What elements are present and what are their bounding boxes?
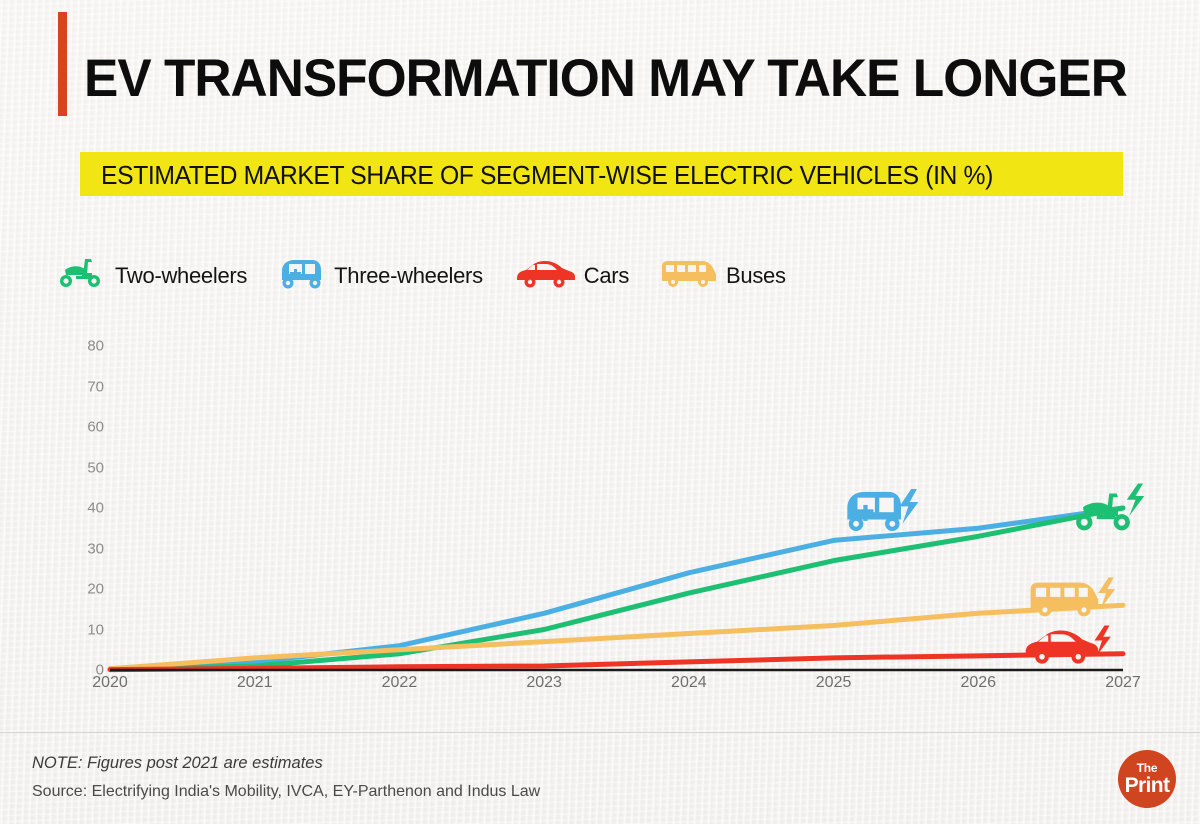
- legend-label-three-wheelers: Three-wheelers: [334, 263, 483, 289]
- logo-line-2: Print: [1125, 775, 1170, 796]
- auto-rickshaw-marker-icon: [847, 489, 918, 531]
- scooter-marker-icon: [1076, 484, 1144, 531]
- legend-item-three-wheelers[interactable]: Three-wheelers: [277, 256, 483, 295]
- chart-note: NOTE: Figures post 2021 are estimates: [32, 754, 323, 773]
- legend-label-buses: Buses: [726, 263, 786, 289]
- x-axis-tick: 2020: [92, 674, 128, 692]
- series-line-buses: [110, 605, 1123, 669]
- endpoint-icons: [847, 484, 1144, 664]
- car-marker-icon: [1026, 626, 1111, 664]
- legend-item-buses[interactable]: Buses: [659, 258, 786, 293]
- auto-rickshaw-icon: [277, 256, 325, 295]
- bus-marker-icon: [1031, 577, 1116, 616]
- series-line-three-wheelers: [110, 508, 1123, 669]
- x-axis-tick: 2025: [816, 674, 852, 692]
- logo-line-1: The: [1137, 762, 1158, 774]
- page-subtitle: ESTIMATED MARKET SHARE OF SEGMENT-WISE E…: [101, 160, 993, 191]
- footer-divider: [0, 732, 1200, 733]
- legend-item-cars[interactable]: Cars: [513, 258, 629, 293]
- car-icon: [513, 258, 575, 293]
- scooter-icon: [52, 256, 106, 295]
- legend-item-two-wheelers[interactable]: Two-wheelers: [52, 256, 247, 295]
- legend-label-two-wheelers: Two-wheelers: [115, 263, 247, 289]
- x-axis-tick: 2021: [237, 674, 273, 692]
- chart-plot-area: [0, 318, 1200, 698]
- x-axis-tick: 2024: [671, 674, 707, 692]
- line-chart: 01020304050607080: [0, 318, 1200, 698]
- page-title: EV TRANSFORMATION MAY TAKE LONGER: [84, 52, 1127, 105]
- series-paths: [110, 508, 1123, 670]
- chart-source: Source: Electrifying India's Mobility, I…: [32, 783, 540, 801]
- bus-icon: [659, 258, 717, 293]
- series-line-two-wheelers: [110, 508, 1123, 669]
- x-axis-tick: 2023: [526, 674, 562, 692]
- title-accent-bar: [58, 12, 67, 116]
- x-axis-tick: 2026: [960, 674, 996, 692]
- x-axis-tick: 2027: [1105, 674, 1141, 692]
- x-axis-tick: 2022: [382, 674, 418, 692]
- theprint-logo[interactable]: The Print: [1118, 750, 1176, 808]
- legend-label-cars: Cars: [584, 263, 629, 289]
- x-axis-labels: 20202021202220232024202520262027: [0, 674, 1200, 704]
- chart-legend: Two-wheelers Three-wheelers: [52, 256, 816, 295]
- infographic-root: EV TRANSFORMATION MAY TAKE LONGER ESTIMA…: [0, 0, 1200, 824]
